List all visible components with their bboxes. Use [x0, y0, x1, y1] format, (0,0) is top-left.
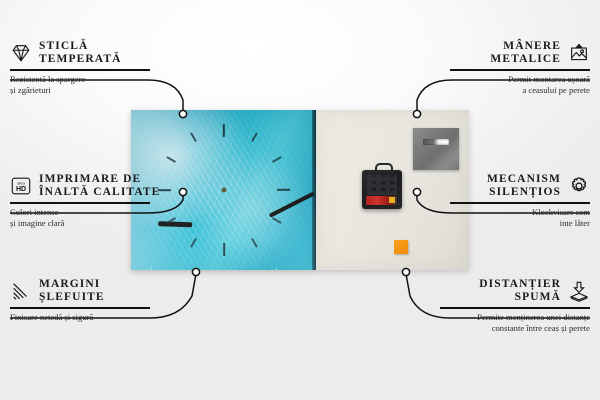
feature-desc-2: constante între ceas și perete: [440, 323, 590, 334]
feature-desc-2: și zgârieturi: [10, 85, 150, 96]
feature-desc: Klockvisare som: [450, 207, 590, 218]
clock-tick: [190, 132, 197, 142]
feature-title: MÂNERE: [490, 40, 561, 53]
feature-foam-spacer: DISTANȚIER SPUMĂ Permite menținerea unei…: [440, 278, 590, 334]
feature-title: MECANISM: [487, 173, 561, 186]
product-image: [131, 110, 469, 270]
feature-desc-2: a ceasului pe perete: [450, 85, 590, 96]
feature-desc-2: inte låter: [450, 218, 590, 229]
infographic-stage: STICLĂ TEMPERATĂ Rezistentă la spargere …: [0, 0, 600, 400]
feature-rule: [450, 202, 590, 204]
feature-title-2: TEMPERATĂ: [39, 53, 122, 66]
feature-rule: [10, 69, 150, 71]
clock-back-panel: [316, 110, 469, 270]
feature-title-2: SPUMĂ: [479, 291, 561, 304]
clock-tick: [222, 243, 224, 256]
feature-title-2: METALICE: [490, 53, 561, 66]
feature-desc: Finisare netedă și sigură: [10, 312, 150, 323]
feature-rule: [10, 307, 150, 309]
mechanism-hanging-loop: [375, 163, 393, 175]
svg-text:HD: HD: [16, 186, 26, 193]
feature-title: IMPRIMARE DE: [39, 173, 160, 186]
feature-title-2: SILENȚIOS: [487, 186, 561, 199]
feature-desc-2: și imagine clară: [10, 218, 150, 229]
clock-tick: [277, 189, 290, 191]
clock-tick: [190, 238, 197, 248]
down-arrow-layer-icon: [568, 280, 590, 302]
feature-title: STICLĂ: [39, 40, 122, 53]
feature-polished-edges: MARGINI ȘLEFUITE Finisare netedă și sigu…: [10, 278, 150, 323]
svg-text:ultra: ultra: [17, 180, 26, 185]
picture-frame-icon: [568, 42, 590, 64]
feature-rule: [450, 69, 590, 71]
feature-desc: Permit montarea ușoară: [450, 74, 590, 85]
feature-silent-mechanism: MECANISM SILENȚIOS Klockvisare som inte …: [450, 173, 590, 229]
diamond-icon: [10, 42, 32, 64]
feature-desc: Culori intense: [10, 207, 150, 218]
clock-tick: [166, 217, 176, 224]
ultra-hd-icon: ultra HD: [10, 175, 32, 197]
feature-desc: Permite menținerea unei distanțe: [440, 312, 590, 323]
diagonal-lines-icon: [10, 280, 32, 302]
clock-tick: [251, 132, 258, 142]
clock-hand-hour: [158, 222, 192, 228]
feature-rule: [10, 202, 150, 204]
clock-tick: [271, 156, 281, 163]
clock-hand-minute: [268, 191, 314, 217]
mechanism-texture: [367, 175, 397, 195]
gear-icon: [568, 175, 590, 197]
hanger-slot: [423, 139, 449, 145]
feature-title: DISTANȚIER: [479, 278, 561, 291]
clock-tick: [271, 217, 281, 224]
clock-tick: [222, 124, 224, 137]
feature-title-2: ÎNALTĂ CALITATE: [39, 186, 160, 199]
battery-terminal: [389, 197, 395, 203]
feature-high-quality-print: ultra HD IMPRIMARE DE ÎNALTĂ CALITATE Cu…: [10, 173, 150, 229]
feature-title: MARGINI: [39, 278, 105, 291]
foam-spacer: [394, 240, 408, 254]
feature-tempered-glass: STICLĂ TEMPERATĂ Rezistentă la spargere …: [10, 40, 150, 96]
feature-metal-hangers: MÂNERE METALICE Permit montarea ușoară a…: [450, 40, 590, 96]
clock-mechanism: [362, 170, 402, 209]
feature-title-2: ȘLEFUITE: [39, 291, 105, 304]
feature-rule: [440, 307, 590, 309]
clock-tick: [166, 156, 176, 163]
battery: [366, 196, 397, 205]
clock-center-pin: [221, 188, 226, 193]
metal-hanger-plate: [413, 128, 459, 170]
feature-desc: Rezistentă la spargere: [10, 74, 150, 85]
clock-tick: [251, 238, 258, 248]
